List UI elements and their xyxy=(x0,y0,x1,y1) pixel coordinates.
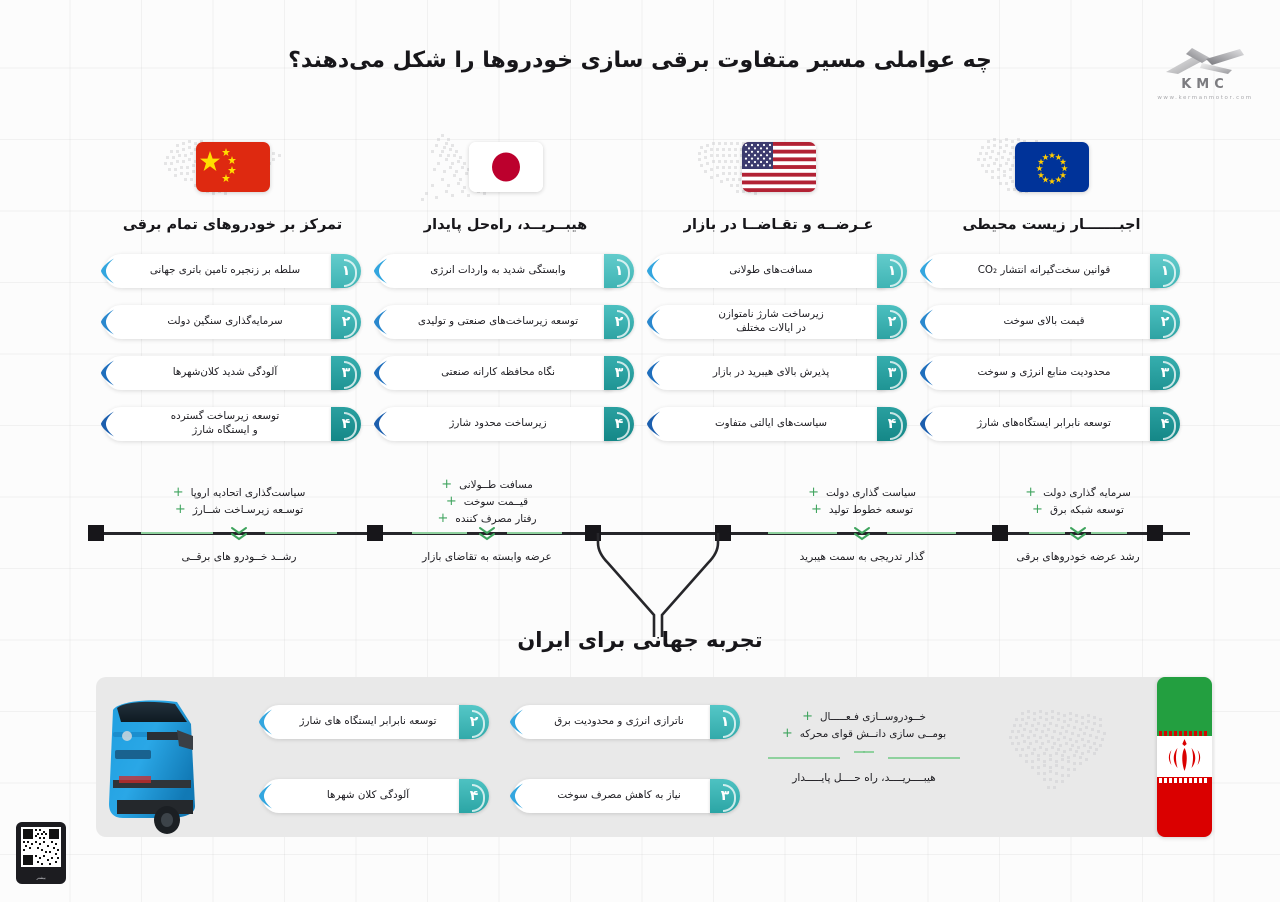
item-pill: نگاه محافظه کارانه صنعتی xyxy=(377,356,613,390)
branch-connector xyxy=(0,455,1280,640)
item-number-badge: ۳ xyxy=(331,356,361,390)
brand-logo: KMC www.kermanmotor.com xyxy=(1145,42,1265,104)
item-text: توسعه زیرساخت‌های صنعتی و تولیدی xyxy=(418,315,578,329)
item-text: قوانین سخت‌گیرانه انتشار CO₂ xyxy=(978,264,1111,278)
list-item[interactable]: ۴ توسعه نابرابر ایستگاه‌های شارژ xyxy=(923,407,1180,441)
chevron-left-icon xyxy=(916,360,935,387)
iran-summary: + خــودروســازی فـعـــــال + بومــی سازی… xyxy=(766,710,962,820)
iran-result: هیبــــریــــد، راه حــــل پایـــــدار xyxy=(766,772,962,784)
item-pill: قیمت بالای سوخت xyxy=(923,305,1159,339)
item-text: وابستگی شدید به واردات انرژی xyxy=(430,264,565,278)
item-number-badge: ۴ xyxy=(331,407,361,441)
driver-text: بومــی سازی دانــش قوای محرکه xyxy=(800,728,946,740)
item-pill: ناترازی انرژی و محدودیت برق xyxy=(513,705,719,739)
chevron-left-icon xyxy=(370,360,389,387)
column-china: تمرکز بر خودروهای تمام برقی ۱ سلطه بر زن… xyxy=(96,122,369,452)
item-text: سلطه بر زنجیره تامین باتری جهانی xyxy=(150,264,300,278)
chevron-left-icon xyxy=(97,360,116,387)
list-item[interactable]: ۴ زیرساخت محدود شارژ xyxy=(377,407,634,441)
item-text: مسافت‌های طولانی xyxy=(729,264,813,278)
item-text: نیاز به کاهش مصرف سوخت xyxy=(557,789,680,803)
item-pill: توسعه زیرساخت گسترده و ایستگاه شارژ xyxy=(104,407,340,441)
item-pill: آلودگی شدید کلان‌شهرها xyxy=(104,356,340,390)
item-number-badge: ۴ xyxy=(1150,407,1180,441)
list-item[interactable]: ۱ سلطه بر زنجیره تامین باتری جهانی xyxy=(104,254,361,288)
driver-text: خــودروســازی فـعـــــال xyxy=(820,711,926,723)
column-head: عـرضــه و تقـاضــا در بازار xyxy=(642,122,915,214)
column-head: تمرکز بر خودروهای تمام برقی xyxy=(96,122,369,214)
item-number-badge: ۳ xyxy=(877,356,907,390)
list-item[interactable]: ۲ قیمت بالای سوخت xyxy=(923,305,1180,339)
item-pill: توسعه زیرساخت‌های صنعتی و تولیدی xyxy=(377,305,613,339)
japan-flag xyxy=(469,142,543,192)
item-text: توسعه نابرابر ایستگاه های شارژ xyxy=(300,715,437,729)
qr-code[interactable]: بیشتر xyxy=(16,822,66,884)
item-number-badge: ۱ xyxy=(1150,254,1180,288)
column-title-japan: هیبــریــد، راه‌حل پایدار xyxy=(369,217,642,233)
list-item[interactable]: ۴ سیاست‌های ایالتی متفاوت xyxy=(650,407,907,441)
list-item[interactable]: ۱ ناترازی انرژی و محدودیت برق xyxy=(513,705,740,739)
item-pill: زیرساخت محدود شارژ xyxy=(377,407,613,441)
item-text: زیرساخت شارژ نامتوازن در ایالات مختلف xyxy=(718,308,823,335)
item-pill: پذیرش بالای هیبرید در بازار xyxy=(650,356,886,390)
list-item[interactable]: ۴ آلودگی کلان شهرها xyxy=(262,779,489,813)
qr-label: بیشتر xyxy=(21,875,61,880)
chevron-left-icon xyxy=(643,411,662,438)
kmc-logo-mark xyxy=(1162,46,1248,76)
list-item[interactable]: ۲ سرمایه‌گذاری سنگین دولت xyxy=(104,305,361,339)
list-item[interactable]: ۲ توسعه نابرابر ایستگاه های شارژ xyxy=(262,705,489,739)
item-text: توسعه زیرساخت گسترده و ایستگاه شارژ xyxy=(171,410,279,437)
item-text: زیرساخت محدود شارژ xyxy=(449,417,546,431)
column-head: هیبــریــد، راه‌حل پایدار xyxy=(369,122,642,214)
iran-map xyxy=(985,690,1155,835)
item-number-badge: ۱ xyxy=(710,705,740,739)
chevron-left-icon xyxy=(643,258,662,285)
chevron-double-down-icon xyxy=(854,751,874,753)
chevron-left-icon xyxy=(255,709,274,736)
item-pill: محدودیت منابع انرژی و سوخت xyxy=(923,356,1159,390)
chevron-left-icon xyxy=(97,309,116,336)
driver-row: + خــودروســازی فـعـــــال xyxy=(802,710,926,723)
list-item[interactable]: ۳ آلودگی شدید کلان‌شهرها xyxy=(104,356,361,390)
chevron-left-icon xyxy=(916,309,935,336)
item-number-badge: ۱ xyxy=(331,254,361,288)
chevron-left-icon xyxy=(370,411,389,438)
column-title-usa: عـرضــه و تقـاضــا در بازار xyxy=(642,217,915,233)
item-pill: آلودگی کلان شهرها xyxy=(262,779,468,813)
list-item[interactable]: ۱ مسافت‌های طولانی xyxy=(650,254,907,288)
item-number-badge: ۴ xyxy=(459,779,489,813)
iran-section-title: تجربه جهانی برای ایران xyxy=(0,628,1280,652)
item-number-badge: ۲ xyxy=(604,305,634,339)
item-pill: زیرساخت شارژ نامتوازن در ایالات مختلف xyxy=(650,305,886,339)
brand-url: www.kermanmotor.com xyxy=(1157,95,1252,101)
item-number-badge: ۲ xyxy=(877,305,907,339)
chevron-left-icon xyxy=(643,360,662,387)
column-usa: عـرضــه و تقـاضــا در بازار ۱ مسافت‌های … xyxy=(642,122,915,452)
iran-drivers: + خــودروســازی فـعـــــال + بومــی سازی… xyxy=(766,710,962,744)
items-usa: ۱ مسافت‌های طولانی ۲ زیرساخت شارژ نامتوا… xyxy=(650,254,907,458)
qr-code-image xyxy=(21,827,61,867)
item-number-badge: ۳ xyxy=(604,356,634,390)
infographic-page: چه عواملی مسیر متفاوت برقی سازی خودروها … xyxy=(0,0,1280,902)
item-text: سیاست‌های ایالتی متفاوت xyxy=(715,417,827,431)
list-item[interactable]: ۳ محدودیت منابع انرژی و سوخت xyxy=(923,356,1180,390)
items-china: ۱ سلطه بر زنجیره تامین باتری جهانی ۲ سرم… xyxy=(104,254,361,458)
item-pill: وابستگی شدید به واردات انرژی xyxy=(377,254,613,288)
driver-row: + بومــی سازی دانــش قوای محرکه xyxy=(782,727,946,740)
item-number-badge: ۱ xyxy=(604,254,634,288)
items-europe: ۱ قوانین سخت‌گیرانه انتشار CO₂ ۲ قیمت با… xyxy=(923,254,1180,458)
chevron-left-icon xyxy=(370,258,389,285)
item-text: محدودیت منابع انرژی و سوخت xyxy=(977,366,1110,380)
item-text: آلودگی کلان شهرها xyxy=(327,789,409,803)
list-item[interactable]: ۳ نگاه محافظه کارانه صنعتی xyxy=(377,356,634,390)
list-item[interactable]: ۴ توسعه زیرساخت گسترده و ایستگاه شارژ xyxy=(104,407,361,441)
item-text: توسعه نابرابر ایستگاه‌های شارژ xyxy=(977,417,1111,431)
column-europe: اجبـــــــار زیست محیطی ۱ قوانین سخت‌گیر… xyxy=(915,122,1188,452)
chevron-left-icon xyxy=(370,309,389,336)
item-pill: توسعه نابرابر ایستگاه های شارژ xyxy=(262,705,468,739)
list-item[interactable]: ۲ توسعه زیرساخت‌های صنعتی و تولیدی xyxy=(377,305,634,339)
eu-flag xyxy=(1015,142,1089,192)
list-item[interactable]: ۳ پذیرش بالای هیبرید در بازار xyxy=(650,356,907,390)
item-number-badge: ۴ xyxy=(877,407,907,441)
iran-flag xyxy=(1157,677,1212,837)
iran-separator xyxy=(766,750,962,764)
item-text: نگاه محافظه کارانه صنعتی xyxy=(441,366,555,380)
item-text: ناترازی انرژی و محدودیت برق xyxy=(554,715,684,729)
chevron-left-icon xyxy=(643,309,662,336)
list-item[interactable]: ۳ نیاز به کاهش مصرف سوخت xyxy=(513,779,740,813)
list-item[interactable]: ۱ وابستگی شدید به واردات انرژی xyxy=(377,254,634,288)
item-number-badge: ۲ xyxy=(331,305,361,339)
item-pill: سرمایه‌گذاری سنگین دولت xyxy=(104,305,340,339)
item-number-badge: ۳ xyxy=(1150,356,1180,390)
item-text: آلودگی شدید کلان‌شهرها xyxy=(173,366,277,380)
plus-icon: + xyxy=(802,710,813,723)
blue-car-rear-image xyxy=(95,688,230,836)
item-pill: قوانین سخت‌گیرانه انتشار CO₂ xyxy=(923,254,1159,288)
item-number-badge: ۴ xyxy=(604,407,634,441)
plus-icon: + xyxy=(782,727,793,740)
item-number-badge: ۱ xyxy=(877,254,907,288)
item-pill: سلطه بر زنجیره تامین باتری جهانی xyxy=(104,254,340,288)
chevron-left-icon xyxy=(97,411,116,438)
usa-flag xyxy=(742,142,816,192)
chevron-left-icon xyxy=(916,411,935,438)
chevron-left-icon xyxy=(255,782,274,809)
item-pill: سیاست‌های ایالتی متفاوت xyxy=(650,407,886,441)
chevron-left-icon xyxy=(506,782,525,809)
item-number-badge: ۲ xyxy=(1150,305,1180,339)
iran-items: ۱ ناترازی انرژی و محدودیت برق ۲ توسعه نا… xyxy=(262,705,740,820)
item-pill: نیاز به کاهش مصرف سوخت xyxy=(513,779,719,813)
chevron-left-icon xyxy=(506,709,525,736)
page-title: چه عواملی مسیر متفاوت برقی سازی خودروها … xyxy=(0,48,1280,73)
item-number-badge: ۳ xyxy=(710,779,740,813)
column-title-china: تمرکز بر خودروهای تمام برقی xyxy=(96,217,369,233)
list-item[interactable]: ۱ قوانین سخت‌گیرانه انتشار CO₂ xyxy=(923,254,1180,288)
items-japan: ۱ وابستگی شدید به واردات انرژی ۲ توسعه ز… xyxy=(377,254,634,458)
item-text: قیمت بالای سوخت xyxy=(1004,315,1085,329)
brand-name: KMC xyxy=(1181,77,1229,92)
list-item[interactable]: ۲ زیرساخت شارژ نامتوازن در ایالات مختلف xyxy=(650,305,907,339)
chevron-left-icon xyxy=(97,258,116,285)
item-pill: توسعه نابرابر ایستگاه‌های شارژ xyxy=(923,407,1159,441)
item-pill: مسافت‌های طولانی xyxy=(650,254,886,288)
column-japan: هیبــریــد، راه‌حل پایدار ۱ وابستگی شدید… xyxy=(369,122,642,452)
item-text: سرمایه‌گذاری سنگین دولت xyxy=(167,315,282,329)
country-columns: تمرکز بر خودروهای تمام برقی ۱ سلطه بر زن… xyxy=(96,122,1188,452)
column-title-europe: اجبـــــــار زیست محیطی xyxy=(915,217,1188,233)
item-text: پذیرش بالای هیبرید در بازار xyxy=(713,366,829,380)
item-number-badge: ۲ xyxy=(459,705,489,739)
column-head: اجبـــــــار زیست محیطی xyxy=(915,122,1188,214)
chevron-left-icon xyxy=(916,258,935,285)
china-flag xyxy=(196,142,270,192)
